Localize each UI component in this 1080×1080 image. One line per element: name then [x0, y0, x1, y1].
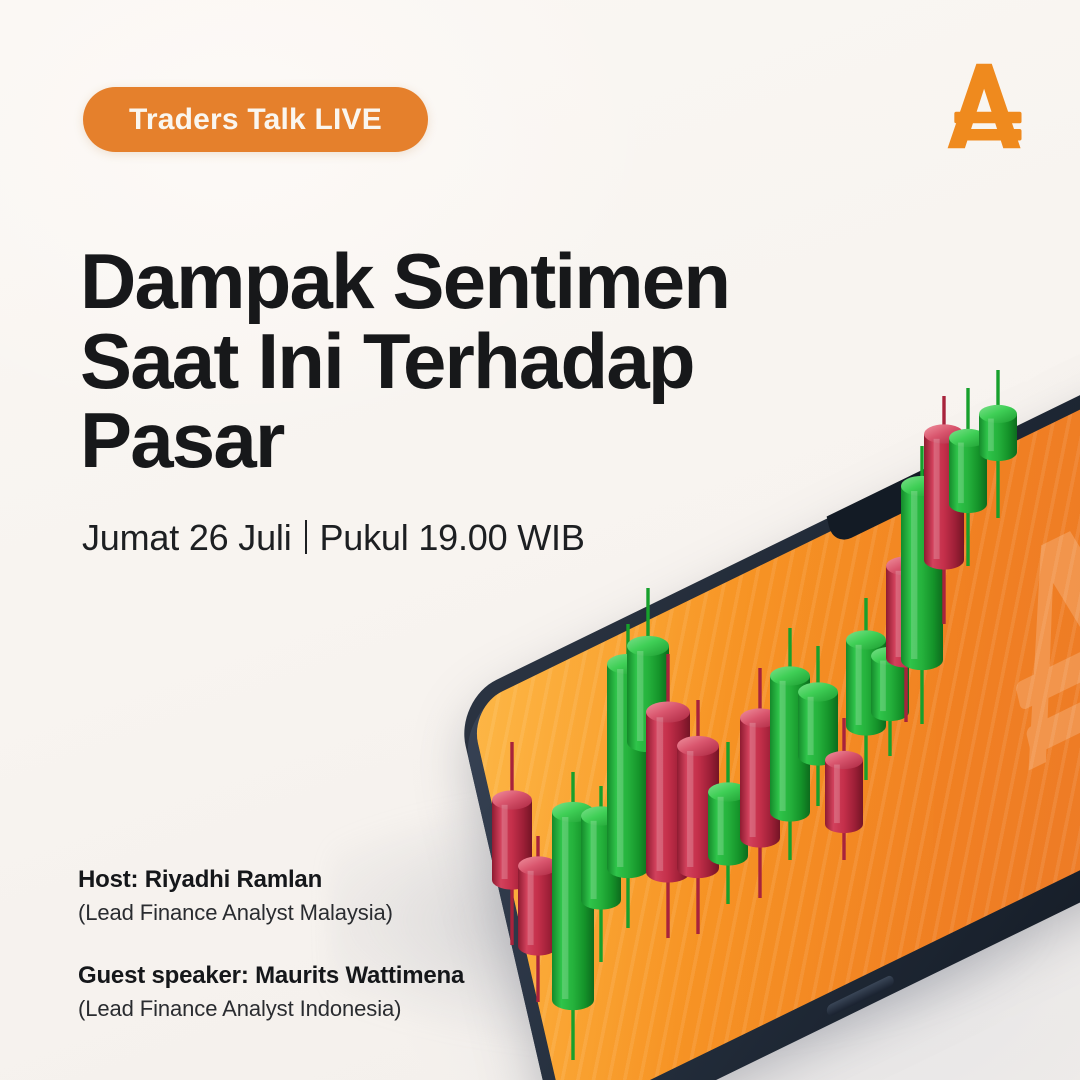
host-role: (Lead Finance Analyst Malaysia) — [78, 900, 464, 926]
page-title: Dampak Sentimen Saat Ini Terhadap Pasar — [80, 242, 780, 481]
schedule-line: Jumat 26 Juli Pukul 19.00 WIB — [82, 516, 585, 559]
live-badge-label: Traders Talk LIVE — [129, 103, 382, 137]
host-entry: Host: Riyadhi Ramlan (Lead Finance Analy… — [78, 866, 464, 926]
host-name: Host: Riyadhi Ramlan — [78, 866, 464, 894]
speakers-block: Host: Riyadhi Ramlan (Lead Finance Analy… — [78, 866, 464, 1022]
headline-line-3: Pasar — [80, 401, 780, 481]
letter-a-logo-icon — [938, 58, 1034, 154]
guest-speaker-entry: Guest speaker: Maurits Wattimena (Lead F… — [78, 962, 464, 1022]
headline-line-1: Dampak Sentimen — [80, 242, 780, 322]
schedule-separator — [305, 520, 307, 554]
headline-line-2: Saat Ini Terhadap — [80, 322, 780, 402]
schedule-date: Jumat 26 Juli — [82, 517, 292, 559]
guest-speaker-name: Guest speaker: Maurits Wattimena — [78, 962, 464, 990]
guest-speaker-role: (Lead Finance Analyst Indonesia) — [78, 996, 464, 1022]
live-badge[interactable]: Traders Talk LIVE — [83, 87, 428, 152]
poster-canvas: Traders Talk LIVE Dampak Sentimen Saat I… — [0, 0, 1080, 1080]
schedule-time: Pukul 19.00 WIB — [320, 517, 585, 559]
